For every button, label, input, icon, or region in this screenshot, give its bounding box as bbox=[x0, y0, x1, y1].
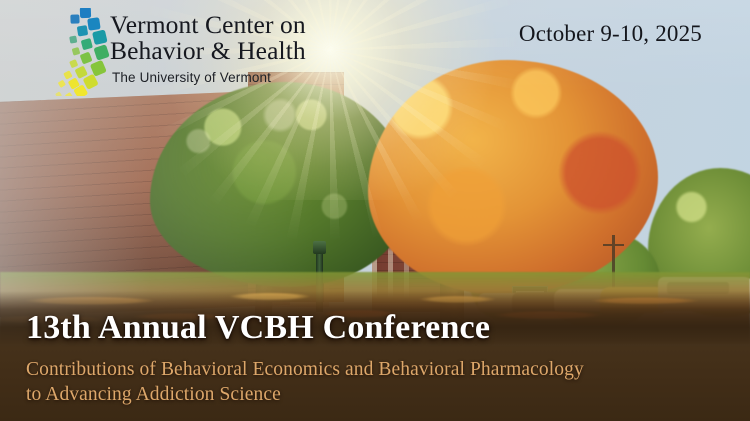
conference-banner: Vermont Center on Behavior & Health The … bbox=[0, 0, 750, 421]
logo-line-1: Vermont Center on bbox=[110, 12, 306, 38]
conference-date: October 9-10, 2025 bbox=[519, 21, 702, 47]
conference-title: 13th Annual VCBH Conference bbox=[26, 308, 736, 348]
vcbh-wordmark: Vermont Center on Behavior & Health The … bbox=[110, 8, 306, 87]
vcbh-diamond-swoosh-logo bbox=[52, 8, 112, 96]
subtitle-line-2: to Advancing Addiction Science bbox=[26, 382, 736, 407]
logo-line-2: Behavior & Health bbox=[110, 38, 306, 64]
vcbh-logo: Vermont Center on Behavior & Health The … bbox=[52, 8, 306, 96]
title-block: 13th Annual VCBH Conference Contribution… bbox=[26, 308, 736, 407]
conference-subtitle: Contributions of Behavioral Economics an… bbox=[26, 357, 736, 407]
subtitle-line-1: Contributions of Behavioral Economics an… bbox=[26, 359, 584, 380]
logo-tagline: The University of Vermont bbox=[112, 69, 306, 87]
